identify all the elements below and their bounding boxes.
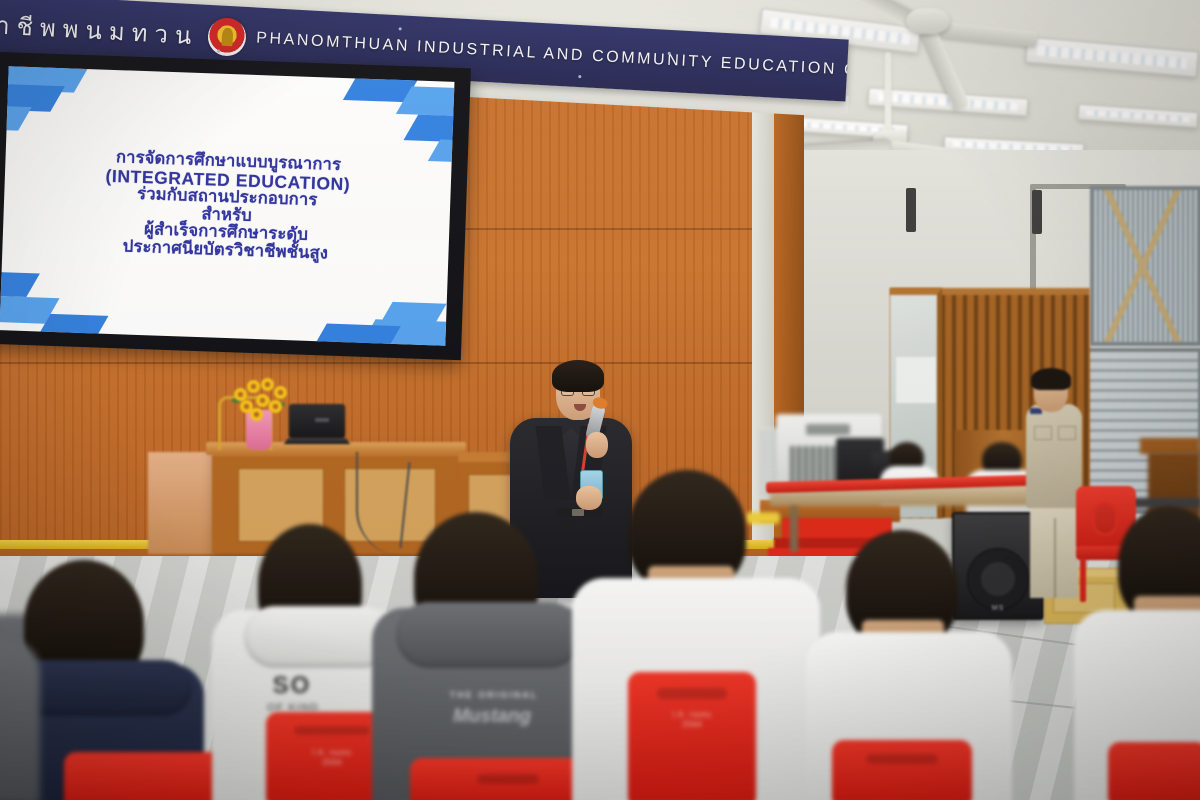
red-plastic-chair-5 xyxy=(832,740,972,800)
presenter-hair xyxy=(552,360,604,392)
ceiling-fan-1 xyxy=(820,0,1050,58)
college-seal-icon xyxy=(207,17,247,57)
slide-deco-shape xyxy=(428,139,455,162)
mesh-window xyxy=(1090,186,1200,346)
red-plastic-chair-6 xyxy=(1108,742,1200,800)
slide-deco-shape xyxy=(0,271,40,297)
presenter-hand-lower xyxy=(576,486,602,510)
banner-thai-text: าชีพพนมทวน xyxy=(0,5,199,55)
speaker-brand-badge: MS xyxy=(992,605,1005,612)
wall-bracket xyxy=(1032,190,1042,234)
presentation-slide: การจัดการศึกษาแบบบูรณาการ (INTEGRATED ED… xyxy=(0,66,454,345)
presenter-laptop xyxy=(286,404,348,450)
presenter-hand-upper xyxy=(586,432,608,458)
sunflower-bouquet xyxy=(228,378,292,420)
podium-side-left xyxy=(148,452,214,554)
hoodie-print-label: SO xyxy=(248,672,336,700)
slide-text-block: การจัดการศึกษาแบบบูรณาการ (INTEGRATED ED… xyxy=(89,148,365,263)
yellow-bowl xyxy=(746,512,780,524)
uniform-staff-hair xyxy=(1031,368,1071,390)
ceiling-fan-2 xyxy=(852,52,932,162)
slide-deco-shape xyxy=(312,324,401,346)
presenter-belt xyxy=(556,508,602,517)
av-table-leg xyxy=(790,506,798,552)
wall-bracket xyxy=(906,188,916,232)
uniform-staff-legs xyxy=(1030,500,1078,598)
photo-scene: าชีพพนมทวน PHANOMTHUAN INDUSTRIAL AND CO… xyxy=(0,0,1200,800)
chair-print-text: I.A. กมทบ2564 xyxy=(277,748,387,768)
uniform-staff-body xyxy=(1026,404,1082,508)
chair-print-text: I.A. กมทบ2564 xyxy=(636,710,748,730)
slide-deco-shape xyxy=(0,105,32,130)
projection-screen: การจัดการศึกษาแบบบูรณาการ (INTEGRATED ED… xyxy=(0,52,471,361)
hoodie-print-signature: Mustang xyxy=(404,706,580,728)
slide-deco-shape xyxy=(403,115,454,142)
red-plastic-chair-4: I.A. กมทบ2564 xyxy=(628,672,756,800)
slide-deco-shape xyxy=(37,314,109,340)
hoodie-print-top: THE ORIGINAL xyxy=(424,690,564,700)
